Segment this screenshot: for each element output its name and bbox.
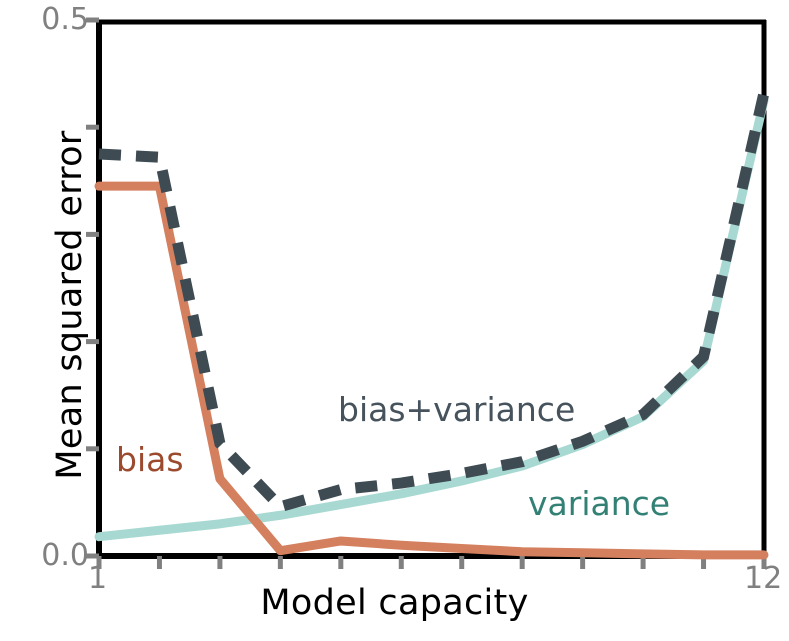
y-axis-title: Mean squared error bbox=[50, 95, 90, 515]
series-line-bias-plus-variance bbox=[99, 93, 764, 507]
y-tick-label-min: 0.0 bbox=[41, 538, 89, 573]
series-label-bias-plus-variance: bias+variance bbox=[338, 390, 575, 429]
y-tick-label-max: 0.5 bbox=[41, 2, 89, 37]
plot-area bbox=[0, 0, 789, 641]
chart-container: 0.5 0.0 1 12 Model capacity Mean squared… bbox=[0, 0, 789, 641]
x-axis-title: Model capacity bbox=[0, 583, 789, 623]
series-label-bias: bias bbox=[116, 440, 184, 479]
series-label-variance: variance bbox=[528, 484, 670, 523]
